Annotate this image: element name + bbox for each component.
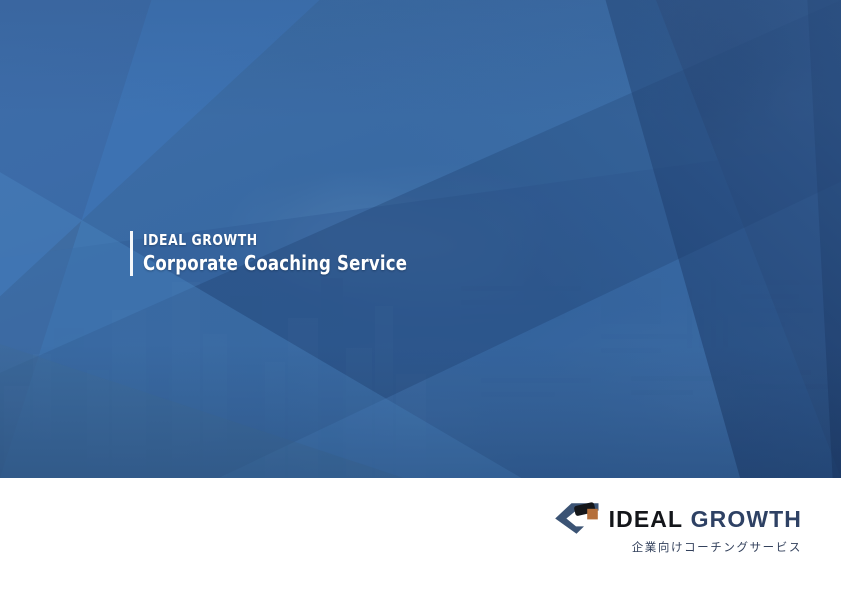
hero-banner: IDEAL GROWTH Corporate Coaching Service bbox=[0, 0, 841, 478]
title-accent-bar bbox=[130, 231, 133, 276]
brand-logo: IDEAL GROWTH 企業向けコーチングサービス bbox=[554, 502, 802, 554]
hero-title-block: IDEAL GROWTH Corporate Coaching Service bbox=[130, 231, 430, 276]
title-text-group: IDEAL GROWTH Corporate Coaching Service bbox=[143, 231, 430, 276]
logo-wordmark-ideal: IDEAL bbox=[609, 506, 684, 532]
diamond-chevron-logo-mark bbox=[554, 502, 600, 535]
logo-wordmark: IDEAL GROWTH bbox=[609, 507, 802, 531]
hero-eyebrow-text: IDEAL GROWTH bbox=[143, 231, 407, 250]
logo-tagline-japanese: 企業向けコーチングサービス bbox=[632, 540, 802, 554]
footer-bar: IDEAL GROWTH 企業向けコーチングサービス bbox=[0, 478, 841, 595]
logo-wordmark-growth: GROWTH bbox=[691, 506, 802, 532]
hero-main-title: Corporate Coaching Service bbox=[143, 251, 407, 276]
cover-slide: IDEAL GROWTH Corporate Coaching Service … bbox=[0, 0, 841, 595]
logo-lockup-row: IDEAL GROWTH bbox=[554, 502, 802, 535]
